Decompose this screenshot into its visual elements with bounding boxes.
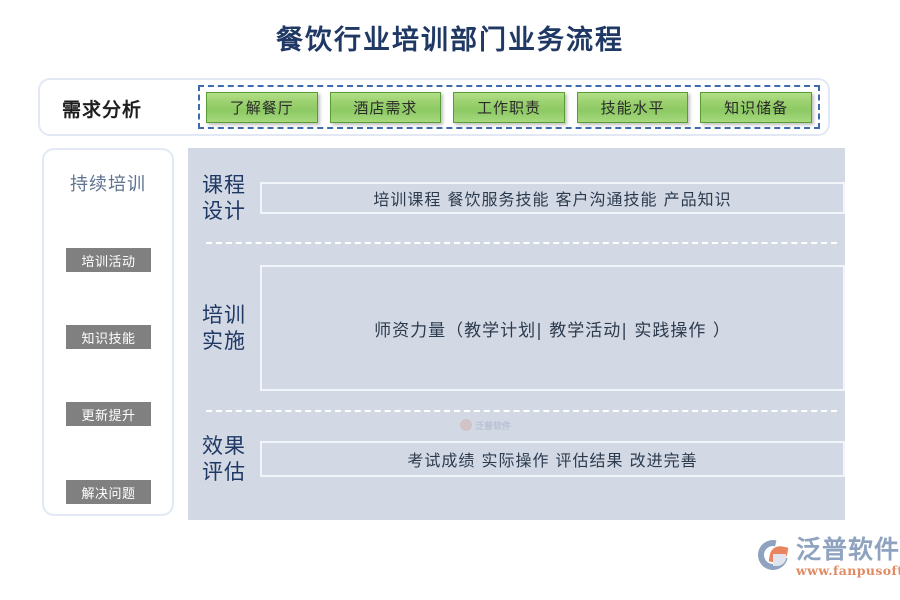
sidebar-item-knowledge-skill[interactable]: 知识技能 (66, 325, 151, 349)
page-title: 餐饮行业培训部门业务流程 (0, 18, 900, 57)
section-content-course-design[interactable]: 培训课程 餐饮服务技能 客户沟通技能 产品知识 (260, 182, 845, 214)
requirement-item-2[interactable]: 酒店需求 (330, 92, 442, 123)
fanpu-logo-icon (758, 538, 792, 572)
requirement-item-5[interactable]: 知识储备 (700, 92, 812, 123)
main-process-panel: 课程 设计 培训课程 餐饮服务技能 客户沟通技能 产品知识 培训 实施 师资力量… (188, 148, 845, 520)
brand-logo: 泛普软件 www.fanpusoft.com (758, 536, 900, 578)
section-content-training-implementation[interactable]: 师资力量（教学计划| 教学活动| 实践操作 ） (260, 265, 845, 391)
sidebar-item-solve-problem[interactable]: 解决问题 (66, 480, 151, 504)
continuous-training-title: 持续培训 (44, 170, 172, 196)
brand-logo-text: 泛普软件 www.fanpusoft.com (796, 536, 900, 578)
brand-name: 泛普软件 (796, 536, 900, 563)
continuous-training-card: 持续培训 培训活动 知识技能 更新提升 解决问题 (42, 148, 174, 516)
requirement-item-1[interactable]: 了解餐厅 (206, 92, 318, 123)
requirement-item-4[interactable]: 技能水平 (577, 92, 689, 123)
section-effect-evaluation: 效果 评估 考试成绩 实际操作 评估结果 改进完善 (188, 420, 845, 498)
section-training-implementation: 培训 实施 师资力量（教学计划| 教学活动| 实践操作 ） (188, 258, 845, 398)
requirements-items-group: 了解餐厅 酒店需求 工作职责 技能水平 知识储备 (198, 85, 820, 129)
section-label-course-design: 课程 设计 (188, 172, 260, 224)
section-content-effect-evaluation[interactable]: 考试成绩 实际操作 评估结果 改进完善 (260, 441, 845, 477)
section-course-design: 课程 设计 培训课程 餐饮服务技能 客户沟通技能 产品知识 (188, 162, 845, 234)
section-label-training-implementation: 培训 实施 (188, 302, 260, 354)
sidebar-item-update-improve[interactable]: 更新提升 (66, 402, 151, 426)
page-root: 餐饮行业培训部门业务流程 需求分析 了解餐厅 酒店需求 工作职责 技能水平 知识… (0, 0, 900, 600)
requirements-analysis-card: 需求分析 了解餐厅 酒店需求 工作职责 技能水平 知识储备 (38, 78, 830, 136)
section-divider-2 (206, 410, 837, 412)
section-divider-1 (206, 242, 837, 244)
sidebar-item-training-activity[interactable]: 培训活动 (66, 248, 151, 272)
brand-url: www.fanpusoft.com (796, 563, 900, 578)
section-label-effect-evaluation: 效果 评估 (188, 433, 260, 485)
requirements-analysis-label: 需求分析 (62, 95, 142, 122)
requirement-item-3[interactable]: 工作职责 (453, 92, 565, 123)
